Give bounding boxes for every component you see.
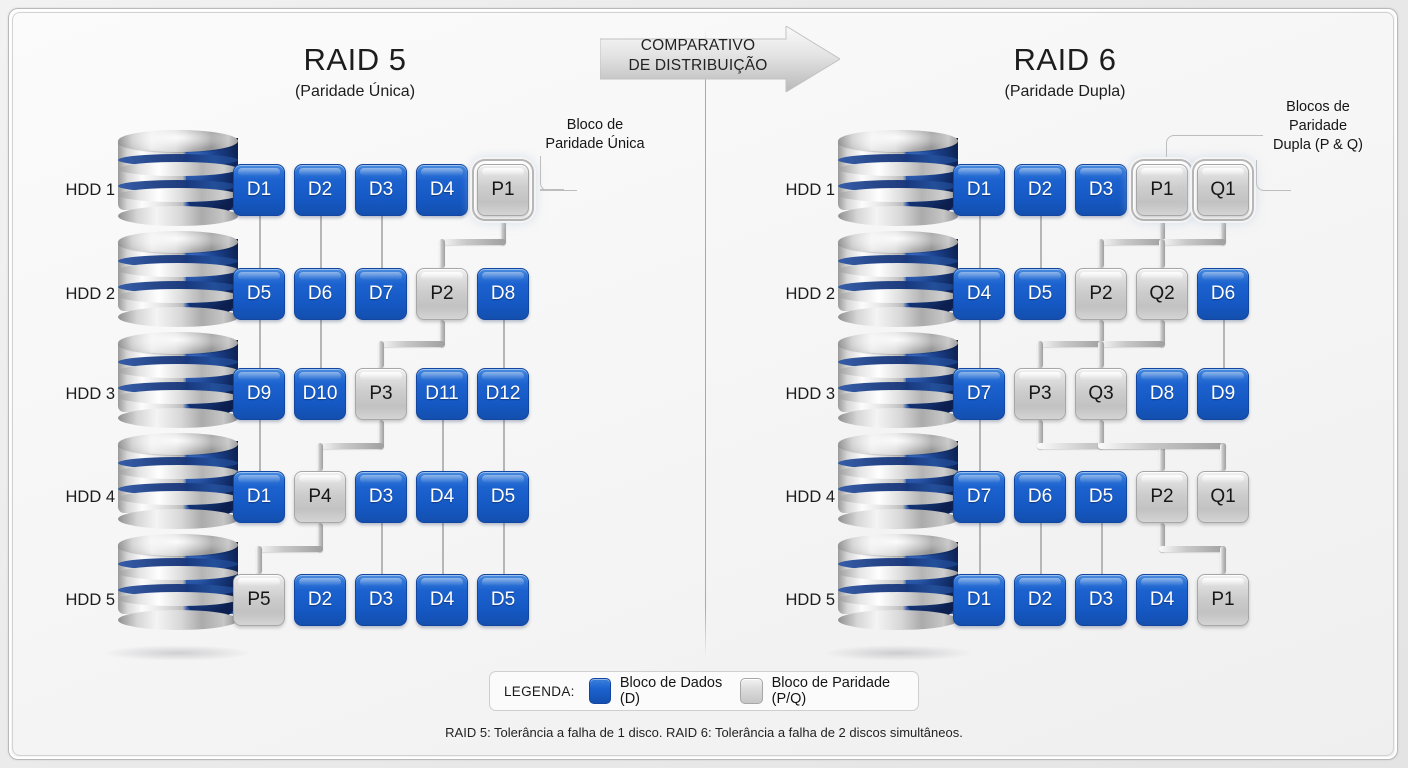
parity-block-p1-raid6-r5[interactable]: P1 [1197,574,1249,626]
block-label: D3 [369,589,393,611]
data-connector [979,420,981,471]
hdd-disk-icon [118,532,238,628]
raid6-subtitle: (Paridade Dupla) [915,81,1215,103]
raid6-callout-line-2: Paridade [1262,117,1374,136]
hdd-disk-icon [838,330,958,426]
block-label: D5 [491,486,515,508]
block-label: D5 [491,589,515,611]
block-label: D3 [369,179,393,201]
data-block-d5-raid5-r5[interactable]: D5 [477,574,529,626]
block-label: D7 [967,486,991,508]
data-connector [259,320,261,368]
raid5-callout-line-1: Bloco de [540,116,650,135]
legend-title: LEGENDA: [504,684,575,699]
hdd-label-3-raid5: HDD 3 [25,385,115,404]
hdd-stack-shadow [103,645,253,661]
block-label: D6 [1211,283,1235,305]
raid6-callout-line-1: Blocos de [1262,98,1374,117]
data-connector [979,216,981,268]
data-connector [320,320,322,368]
raid6-title: RAID 6 [915,42,1215,78]
block-label: D8 [1150,383,1174,405]
data-connector [320,216,322,268]
hdd-disk-icon [838,229,958,325]
block-label: P3 [1028,383,1051,405]
hdd-label-4-raid6: HDD 4 [745,488,835,507]
data-block-d9-raid5-r3[interactable]: D9 [233,368,285,420]
data-block-d4-raid5-r5[interactable]: D4 [416,574,468,626]
raid6-callout-line-3: Dupla (P & Q) [1262,136,1374,155]
block-label: D5 [247,283,271,305]
parity-block-p4-raid5-r4[interactable]: P4 [294,471,346,523]
block-label: P1 [1150,179,1173,201]
hdd-label-3-raid6: HDD 3 [745,385,835,404]
hdd-label-5-raid6: HDD 5 [745,591,835,610]
block-label: P1 [491,179,514,201]
raid5-callout-leader-elbow [540,156,577,191]
block-label: D4 [967,283,991,305]
hdd-disk-icon [118,330,238,426]
data-block-d10-raid5-r3[interactable]: D10 [294,368,346,420]
block-label: D4 [1150,589,1174,611]
data-block-d7-raid6-r3[interactable]: D7 [953,368,1005,420]
block-label: D1 [247,486,271,508]
raid5-callout-line-2: Paridade Única [540,135,650,154]
parity-block-p1-raid6-r1[interactable]: P1 [1136,164,1188,216]
block-label: Q1 [1210,179,1235,201]
data-block-d4-raid6-r2[interactable]: D4 [953,268,1005,320]
raid5-title: RAID 5 [205,42,505,78]
legend: LEGENDA: Bloco de Dados (D) Bloco de Par… [489,671,919,711]
data-connector [503,320,505,368]
block-label: D6 [308,283,332,305]
data-block-d2-raid5-r5[interactable]: D2 [294,574,346,626]
block-label: P5 [247,589,270,611]
block-label: P2 [430,283,453,305]
data-connector [442,523,444,574]
block-label: D5 [1089,486,1113,508]
raid5-callout-leader-line [540,189,564,191]
legend-parity-swatch [740,678,762,704]
data-connector [979,523,981,574]
panel-divider [705,28,706,658]
parity-block-p2-raid6-r2[interactable]: P2 [1075,268,1127,320]
legend-data-label: Bloco de Dados (D) [620,675,727,707]
data-block-d6-raid6-r2[interactable]: D6 [1197,268,1249,320]
parity-block-q1-raid6-r4[interactable]: Q1 [1197,471,1249,523]
hdd-stack-shadow [823,645,973,661]
hdd-label-1-raid5: HDD 1 [25,181,115,200]
block-label: P1 [1211,589,1234,611]
footnote: RAID 5: Tolerância a falha de 1 disco. R… [0,725,1408,740]
data-block-d6-raid5-r2[interactable]: D6 [294,268,346,320]
data-block-d5-raid5-r4[interactable]: D5 [477,471,529,523]
block-label: D1 [967,179,991,201]
raid5-subtitle: (Paridade Única) [205,81,505,103]
parity-block-p1-raid5-r1[interactable]: P1 [477,164,529,216]
data-block-d1-raid5-r1[interactable]: D1 [233,164,285,216]
data-block-d3-raid5-r1[interactable]: D3 [355,164,407,216]
data-block-d1-raid5-r4[interactable]: D1 [233,471,285,523]
legend-parity-label: Bloco de Paridade (P/Q) [772,675,904,707]
block-label: D2 [308,179,332,201]
data-block-d9-raid6-r3[interactable]: D9 [1197,368,1249,420]
block-label: D4 [430,589,454,611]
data-block-d11-raid5-r3[interactable]: D11 [416,368,468,420]
data-connector [1223,320,1225,368]
block-label: D3 [1089,589,1113,611]
parity-block-p2-raid6-r4[interactable]: P2 [1136,471,1188,523]
data-block-d3-raid6-r1[interactable]: D3 [1075,164,1127,216]
data-block-d3-raid5-r5[interactable]: D3 [355,574,407,626]
block-label: D11 [425,383,458,405]
block-label: P2 [1150,486,1173,508]
raid6-title-block: RAID 6 (Paridade Dupla) [915,42,1215,103]
data-block-d8-raid6-r3[interactable]: D8 [1136,368,1188,420]
raid6-callout-leader-right [1256,160,1291,191]
data-block-d7-raid6-r4[interactable]: D7 [953,471,1005,523]
block-label: P2 [1089,283,1112,305]
hdd-disk-icon [838,128,958,224]
block-label: D10 [303,383,338,405]
data-connector [979,320,981,368]
data-block-d5-raid5-r2[interactable]: D5 [233,268,285,320]
block-label: D9 [247,383,271,405]
block-label: D4 [430,179,454,201]
arrow-text: COMPARATIVO DE DISTRIBUIÇÃO [600,36,796,76]
arrow-line-1: COMPARATIVO [600,36,796,56]
data-block-d12-raid5-r3[interactable]: D12 [477,368,529,420]
hdd-label-2-raid6: HDD 2 [745,285,835,304]
arrow-line-2: DE DISTRIBUIÇÃO [600,56,796,76]
data-block-d2-raid5-r1[interactable]: D2 [294,164,346,216]
block-label: D2 [1028,179,1052,201]
data-connector [442,420,444,471]
data-block-d5-raid6-r2[interactable]: D5 [1014,268,1066,320]
data-connector [259,420,261,471]
raid5-parity-callout: Bloco de Paridade Única [540,116,650,154]
block-label: Q1 [1210,486,1235,508]
parity-block-p3-raid6-r3[interactable]: P3 [1014,368,1066,420]
parity-block-q3-raid6-r3[interactable]: Q3 [1075,368,1127,420]
data-connector [259,216,261,268]
block-label: D1 [247,179,271,201]
hdd-disk-icon [838,431,958,527]
legend-data-swatch [589,678,611,704]
block-label: D7 [369,283,393,305]
data-connector [1040,216,1042,268]
data-block-d1-raid6-r5[interactable]: D1 [953,574,1005,626]
hdd-disk-icon [118,431,238,527]
block-label: D3 [1089,179,1113,201]
block-label: P4 [308,486,331,508]
block-label: D3 [369,486,393,508]
block-label: Q3 [1088,383,1113,405]
data-connector [503,420,505,471]
hdd-label-5-raid5: HDD 5 [25,591,115,610]
parity-block-q1-raid6-r1[interactable]: Q1 [1197,164,1249,216]
parity-block-p3-raid5-r3[interactable]: P3 [355,368,407,420]
data-block-d4-raid5-r1[interactable]: D4 [416,164,468,216]
block-label: D9 [1211,383,1235,405]
raid5-title-block: RAID 5 (Paridade Única) [205,42,505,103]
parity-block-p5-raid5-r5[interactable]: P5 [233,574,285,626]
block-label: D1 [967,589,991,611]
data-block-d8-raid5-r2[interactable]: D8 [477,268,529,320]
hdd-disk-icon [118,128,238,224]
hdd-disk-icon [118,229,238,325]
parity-block-q2-raid6-r2[interactable]: Q2 [1136,268,1188,320]
raid6-callout-leader-top [1166,135,1263,162]
hdd-disk-icon [838,532,958,628]
parity-block-p2-raid5-r2[interactable]: P2 [416,268,468,320]
data-block-d3-raid6-r5[interactable]: D3 [1075,574,1127,626]
block-label: D5 [1028,283,1052,305]
block-label: D12 [486,383,521,405]
block-label: Q2 [1149,283,1174,305]
data-block-d3-raid5-r4[interactable]: D3 [355,471,407,523]
data-block-d2-raid6-r1[interactable]: D2 [1014,164,1066,216]
data-block-d7-raid5-r2[interactable]: D7 [355,268,407,320]
data-block-d6-raid6-r4[interactable]: D6 [1014,471,1066,523]
data-block-d4-raid6-r5[interactable]: D4 [1136,574,1188,626]
data-block-d1-raid6-r1[interactable]: D1 [953,164,1005,216]
block-label: D8 [491,283,515,305]
hdd-label-4-raid5: HDD 4 [25,488,115,507]
block-label: D4 [430,486,454,508]
hdd-label-1-raid6: HDD 1 [745,181,835,200]
data-connector [381,216,383,268]
data-connector [503,523,505,574]
block-label: D7 [967,383,991,405]
data-block-d2-raid6-r5[interactable]: D2 [1014,574,1066,626]
block-label: D2 [308,589,332,611]
data-block-d4-raid5-r4[interactable]: D4 [416,471,468,523]
block-label: P3 [369,383,392,405]
comparison-arrow: COMPARATIVO DE DISTRIBUIÇÃO [600,26,840,92]
data-block-d5-raid6-r4[interactable]: D5 [1075,471,1127,523]
raid6-parity-callout: Blocos de Paridade Dupla (P & Q) [1262,98,1374,155]
raid-comparison-diagram: RAID 5 (Paridade Única) RAID 6 (Paridade… [0,0,1408,768]
block-label: D6 [1028,486,1052,508]
data-connector [1040,523,1042,574]
data-connector [1101,523,1103,574]
block-label: D2 [1028,589,1052,611]
data-connector [381,523,383,574]
hdd-label-2-raid5: HDD 2 [25,285,115,304]
